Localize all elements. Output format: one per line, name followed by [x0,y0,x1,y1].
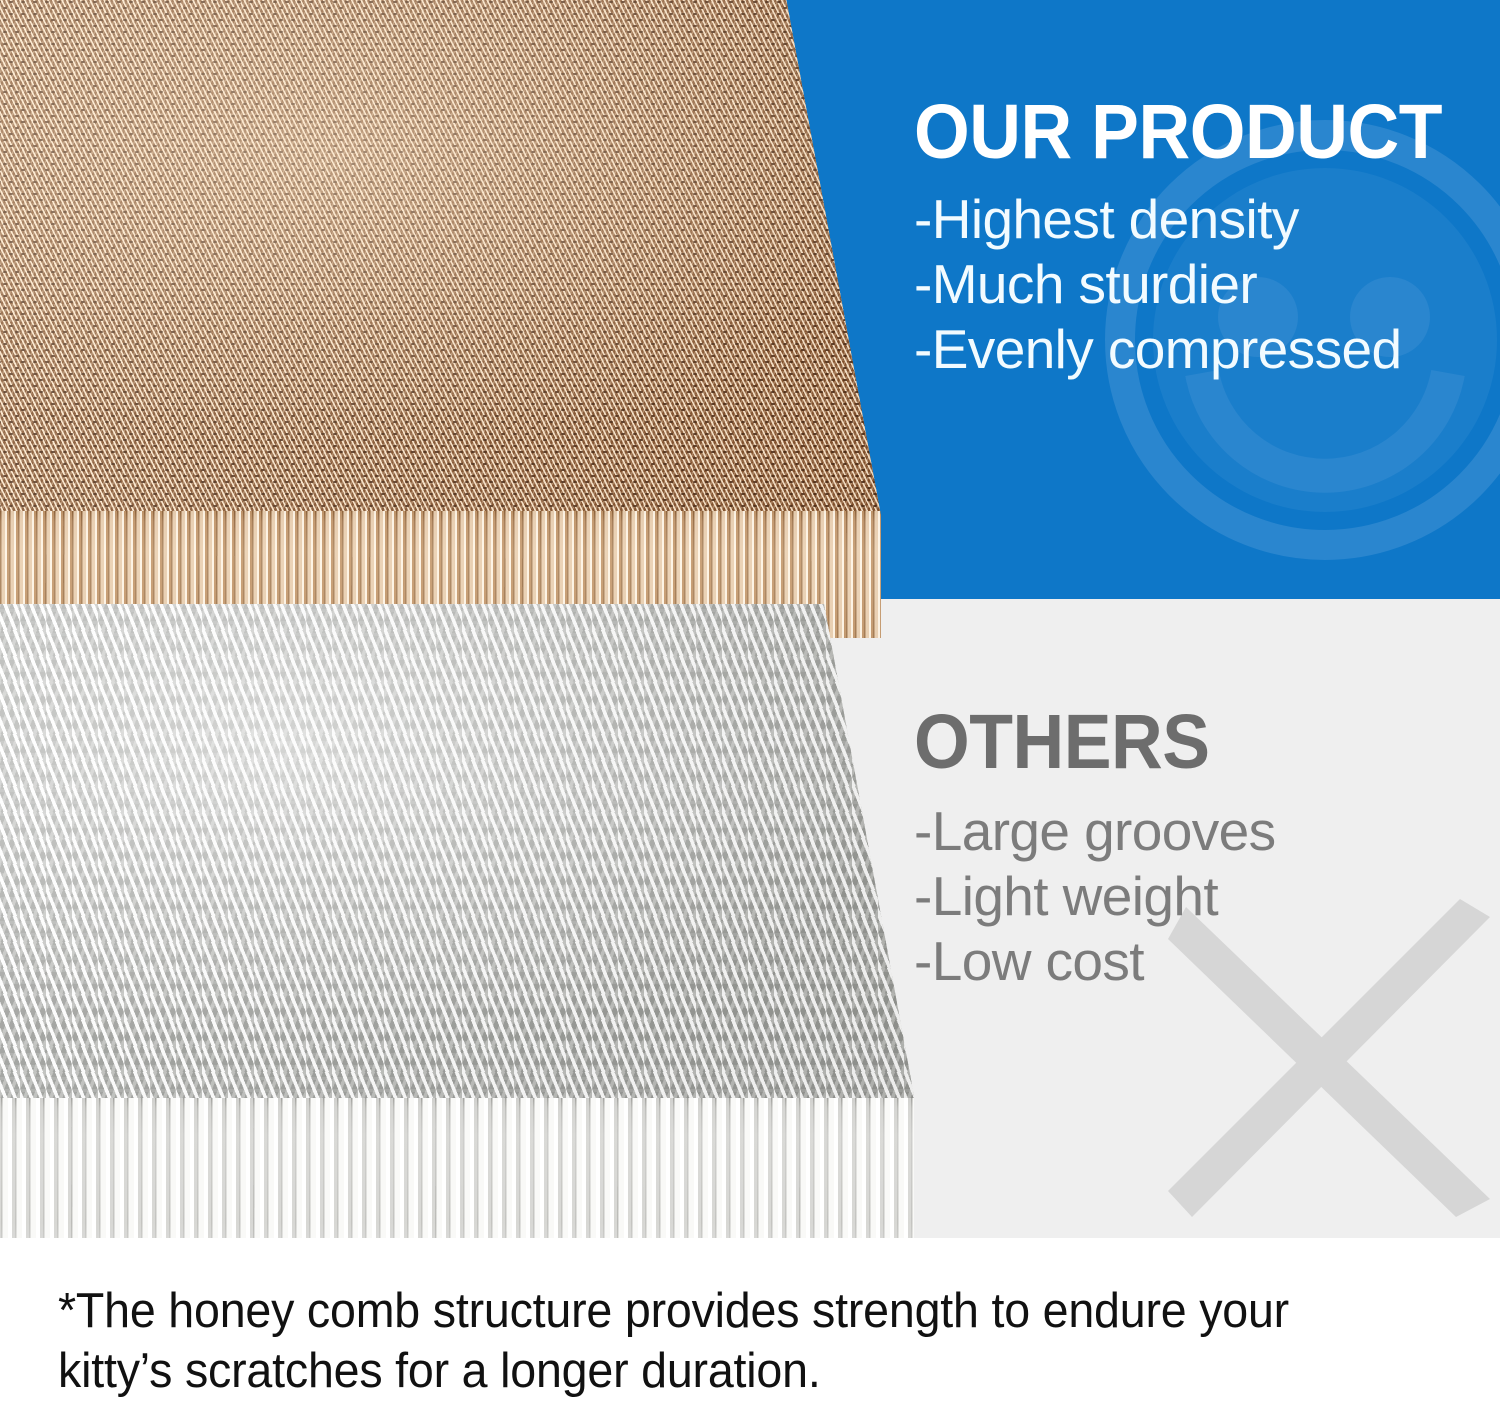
others-bullet: -Low cost [914,929,1500,994]
our-product-bullet: -Evenly compressed [914,317,1500,382]
footnote-area: *The honey comb structure provides stren… [0,1238,1500,1424]
others-white-pad-photo [0,604,954,1238]
others-bullet: -Light weight [914,864,1500,929]
our-product-bullet-list: -Highest density -Much sturdier -Evenly … [914,187,1500,382]
white-pad-cut-edge [0,1098,954,1238]
others-text-block: OTHERS -Large grooves -Light weight -Low… [914,706,1500,994]
brown-honeycomb-surface [0,0,896,518]
our-product-text-block: OUR PRODUCT -Highest density -Much sturd… [914,96,1500,382]
our-product-bullet: -Highest density [914,187,1500,252]
white-honeycomb-surface [0,604,954,1104]
our-product-bullet: -Much sturdier [914,252,1500,317]
others-heading: OTHERS [914,706,1459,779]
our-product-cardboard-photo [0,0,896,648]
product-comparison-infographic: OUR PRODUCT -Highest density -Much sturd… [0,0,1500,1424]
footnote-text: *The honey comb structure provides stren… [58,1282,1373,1402]
others-bullet: -Large grooves [914,799,1500,864]
others-bullet-list: -Large grooves -Light weight -Low cost [914,799,1500,994]
comparison-area: OUR PRODUCT -Highest density -Much sturd… [0,0,1500,1238]
our-product-heading: OUR PRODUCT [914,96,1459,169]
